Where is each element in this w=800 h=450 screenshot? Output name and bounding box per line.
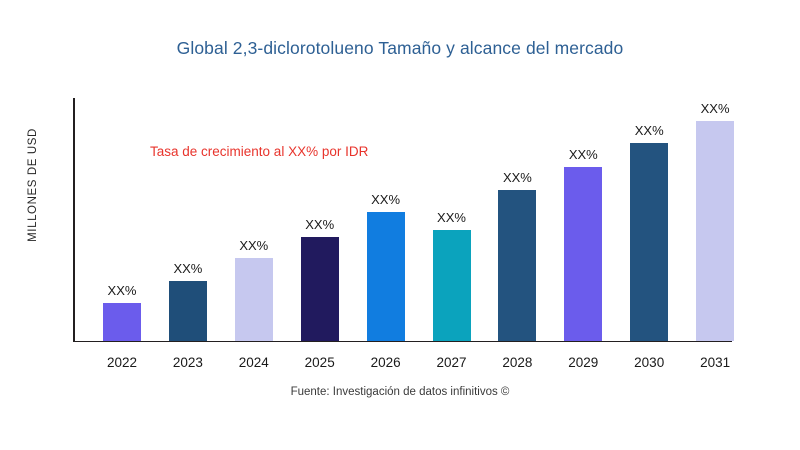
bar-2028[interactable]: XX%	[498, 190, 536, 341]
x-tick-2023: 2023	[173, 355, 203, 370]
x-tick-2026: 2026	[371, 355, 401, 370]
bar-series: XX%XX%XX%XX%XX%XX%XX%XX%XX%XX%	[0, 0, 800, 450]
bar-value-label-2022: XX%	[108, 283, 137, 298]
bar-chart: Global 2,3-diclorotolueno Tamaño y alcan…	[0, 0, 800, 450]
bar-2026[interactable]: XX%	[367, 212, 405, 341]
bar-rect-2022	[103, 303, 141, 341]
bar-rect-2023	[169, 281, 207, 341]
x-tick-2024: 2024	[239, 355, 269, 370]
bar-2029[interactable]: XX%	[564, 167, 602, 341]
bar-value-label-2029: XX%	[569, 147, 598, 162]
bar-2025[interactable]: XX%	[301, 237, 339, 341]
bar-2031[interactable]: XX%	[696, 121, 734, 341]
bar-rect-2027	[433, 230, 471, 341]
bar-value-label-2027: XX%	[437, 210, 466, 225]
bar-value-label-2026: XX%	[371, 192, 400, 207]
bar-2022[interactable]: XX%	[103, 303, 141, 341]
bar-rect-2029	[564, 167, 602, 341]
bar-rect-2031	[696, 121, 734, 341]
bar-2027[interactable]: XX%	[433, 230, 471, 341]
bar-value-label-2031: XX%	[701, 101, 730, 116]
bar-value-label-2025: XX%	[305, 217, 334, 232]
source-caption: Fuente: Investigación de datos infinitiv…	[0, 386, 800, 398]
bar-2030[interactable]: XX%	[630, 143, 668, 341]
bar-value-label-2028: XX%	[503, 170, 532, 185]
bar-value-label-2024: XX%	[239, 238, 268, 253]
x-tick-2029: 2029	[568, 355, 598, 370]
x-tick-2031: 2031	[700, 355, 730, 370]
bar-rect-2025	[301, 237, 339, 341]
bar-rect-2028	[498, 190, 536, 341]
x-tick-2030: 2030	[634, 355, 664, 370]
x-tick-2028: 2028	[502, 355, 532, 370]
x-tick-2027: 2027	[436, 355, 466, 370]
bar-value-label-2030: XX%	[635, 123, 664, 138]
x-tick-2022: 2022	[107, 355, 137, 370]
bar-2023[interactable]: XX%	[169, 281, 207, 341]
bar-rect-2026	[367, 212, 405, 341]
bar-value-label-2023: XX%	[173, 261, 202, 276]
bar-rect-2024	[235, 258, 273, 341]
x-tick-2025: 2025	[305, 355, 335, 370]
bar-rect-2030	[630, 143, 668, 341]
bar-2024[interactable]: XX%	[235, 258, 273, 341]
